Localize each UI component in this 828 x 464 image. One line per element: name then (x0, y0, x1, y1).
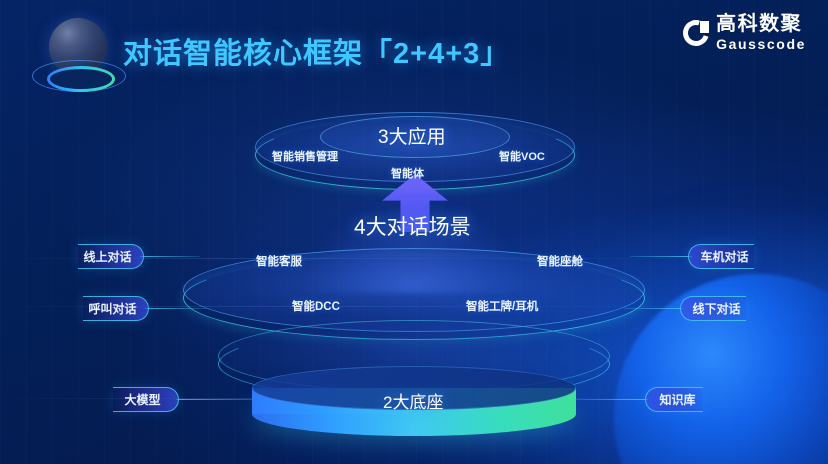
pill-large-model[interactable]: 大模型 (113, 387, 179, 412)
connector-line-offline (624, 308, 684, 309)
connector-line-vehicle (630, 256, 692, 257)
scenario-item-badge: 智能工牌/耳机 (466, 298, 538, 314)
pill-call-dialogue[interactable]: 呼叫对话 (83, 296, 149, 321)
pill-label: 线下对话 (692, 300, 740, 317)
pill-online-dialogue[interactable]: 线上对话 (78, 244, 144, 269)
pill-vehicle-dialogue[interactable]: 车机对话 (688, 244, 754, 269)
pill-label: 车机对话 (700, 248, 748, 265)
scenarios-title: 4大对话场景 (354, 211, 471, 241)
pill-knowledge-base[interactable]: 知识库 (645, 387, 703, 412)
foundation-title: 2大底座 (383, 388, 443, 413)
pill-label: 知识库 (659, 391, 695, 408)
connector-line-call (145, 308, 207, 309)
slide-canvas: 对话智能核心框架「2+4+3」 高科数聚 Gausscode 3大应用 智能销售… (0, 0, 828, 464)
pill-offline-dialogue[interactable]: 线下对话 (680, 296, 746, 321)
application-item-voc: 智能VOC (499, 148, 545, 164)
agent-arrow-label: 智能体 (391, 165, 424, 181)
applications-title: 3大应用 (378, 122, 446, 149)
scenario-item-cockpit: 智能座舱 (537, 253, 583, 269)
connector-line-online (140, 256, 200, 257)
scenario-item-dcc: 智能DCC (292, 298, 340, 314)
scenario-item-service: 智能客服 (256, 253, 302, 269)
framework-diagram: 3大应用 智能销售管理 智能VOC 智能体 4大对话场景 智能客服 智能座舱 智… (0, 0, 828, 464)
application-item-sales: 智能销售管理 (272, 148, 338, 164)
pill-label: 线上对话 (83, 248, 131, 265)
connector-line-knowledge (570, 399, 648, 400)
pill-label: 大模型 (124, 391, 160, 408)
pill-label: 呼叫对话 (88, 300, 136, 317)
